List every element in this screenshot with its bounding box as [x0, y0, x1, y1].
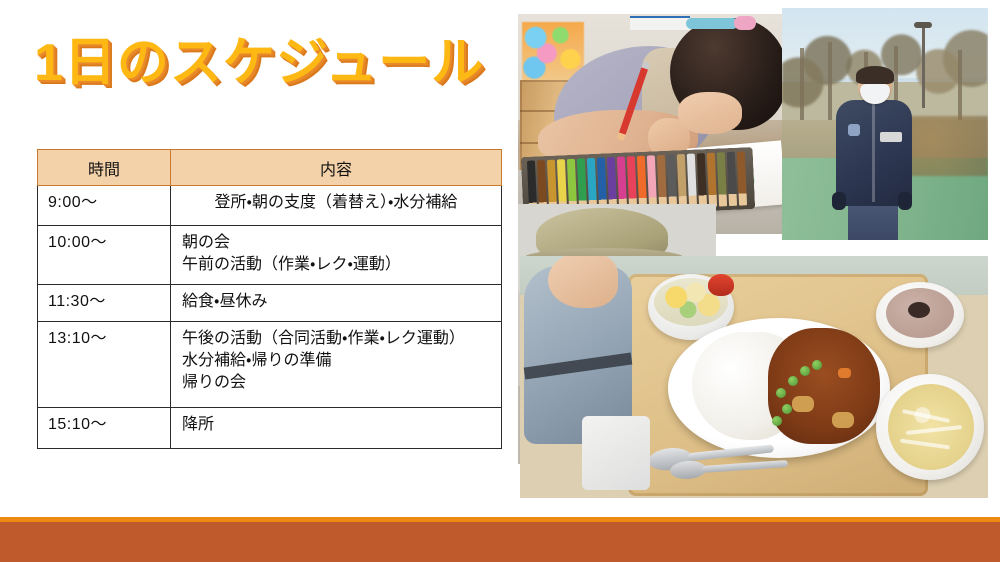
- content-line: 午前の活動（作業・レク・運動）: [182, 254, 492, 276]
- content-line: 給食・昼休み: [182, 291, 492, 313]
- content-line: 降所: [182, 414, 492, 436]
- footer-band: [0, 522, 1000, 562]
- table-body: 9:00～ 登所・朝の支度（着替え）・水分補給 10:00～ 朝の会 午前の活動…: [38, 186, 502, 449]
- table-header-row: 時間 内容: [38, 150, 502, 186]
- cell-content: 降所: [171, 408, 502, 449]
- slide-canvas: 1日のスケジュール 時間 内容 9:00～ 登所・朝の支度（着替え）・水分補給 …: [0, 0, 1000, 562]
- content-line: 帰りの会: [182, 372, 492, 394]
- content-line: 朝の会: [182, 232, 492, 254]
- cell-content: 給食・昼休み: [171, 285, 502, 322]
- cell-time: 10:00～: [38, 226, 171, 285]
- table-row: 15:10～ 降所: [38, 408, 502, 449]
- table-row: 13:10～ 午後の活動（合同活動・作業・レク運動） 水分補給・帰りの準備 帰り…: [38, 322, 502, 408]
- cell-content: 朝の会 午前の活動（作業・レク・運動）: [171, 226, 502, 285]
- column-header-content: 内容: [171, 150, 502, 186]
- photo-collage: [518, 8, 988, 498]
- table-row: 9:00～ 登所・朝の支度（着替え）・水分補給: [38, 186, 502, 226]
- content-line: 午後の活動（合同活動・作業・レク運動）: [182, 328, 492, 350]
- photo-lunch-tray: [520, 256, 988, 498]
- table-head: 時間 内容: [38, 150, 502, 186]
- photo-outdoor-walk: [782, 8, 988, 240]
- cell-time: 15:10～: [38, 408, 171, 449]
- column-header-time: 時間: [38, 150, 171, 186]
- table-row: 10:00～ 朝の会 午前の活動（作業・レク・運動）: [38, 226, 502, 285]
- cell-content: 午後の活動（合同活動・作業・レク運動） 水分補給・帰りの準備 帰りの会: [171, 322, 502, 408]
- cell-time: 11:30～: [38, 285, 171, 322]
- page-title: 1日のスケジュール: [34, 36, 484, 91]
- content-line: 水分補給・帰りの準備: [182, 350, 492, 372]
- cell-time: 9:00～: [38, 186, 171, 226]
- content-line: 登所・朝の支度（着替え）・水分補給: [180, 192, 492, 214]
- cell-content: 登所・朝の支度（着替え）・水分補給: [171, 186, 502, 226]
- schedule-table: 時間 内容 9:00～ 登所・朝の支度（着替え）・水分補給 10:00～ 朝の会…: [37, 149, 502, 449]
- cell-time: 13:10～: [38, 322, 171, 408]
- table-row: 11:30～ 給食・昼休み: [38, 285, 502, 322]
